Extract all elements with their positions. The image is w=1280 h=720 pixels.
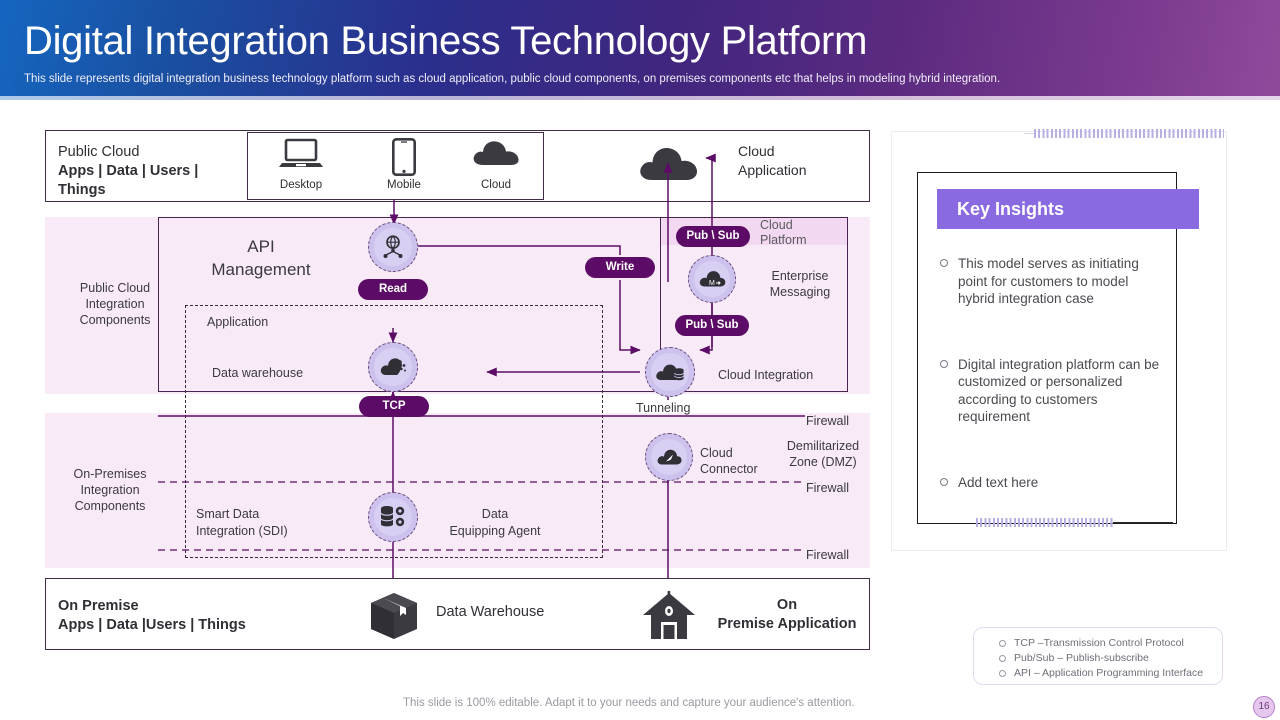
on-premises-integration-label: On-Premises Integration Components xyxy=(55,466,165,514)
smart-data-integration-node[interactable] xyxy=(368,492,418,542)
data-warehouse-box-icon xyxy=(367,591,421,641)
smart-data-integration-label: Smart Data Integration (SDI) xyxy=(196,506,316,540)
firewall-label-2: Firewall xyxy=(806,481,849,495)
cloud-connector-label: Cloud Connector xyxy=(700,445,770,477)
sdi-label-line1: Smart Data xyxy=(196,506,316,523)
enterprise-messaging-label: Enterprise Messaging xyxy=(755,268,845,300)
device-desktop-caption: Desktop xyxy=(262,179,340,191)
cloud-connector-node[interactable] xyxy=(645,433,693,481)
cloud-data-icon xyxy=(374,348,411,385)
svg-text:M: M xyxy=(709,280,715,287)
cloud-connector-icon xyxy=(651,439,687,475)
legend-item-text: API – Application Programming Interface xyxy=(1014,667,1203,679)
api-title-line1: API xyxy=(186,235,336,258)
tunneling-label: Tunneling xyxy=(636,400,690,416)
pci-label-line1: Public Cloud xyxy=(60,280,170,296)
key-insights-heading: Key Insights xyxy=(937,189,1199,229)
read-pill: Read xyxy=(359,280,427,299)
abbreviations-legend: TCP –Transmission Control Protocol Pub/S… xyxy=(973,627,1223,685)
key-insight-item: Digital integration platform can be cust… xyxy=(936,356,1161,426)
public-cloud-label-line2: Apps | Data | Users | Things xyxy=(58,162,248,200)
pub-sub-pill-top: Pub \ Sub xyxy=(677,227,749,246)
page-number-badge: 16 xyxy=(1253,696,1275,718)
key-insights-header: Key Insights xyxy=(937,189,1199,229)
key-insight-item: This model serves as initiating point fo… xyxy=(936,255,1161,308)
key-insight-text: Digital integration platform can be cust… xyxy=(958,357,1159,425)
opi-label-line1: On-Premises xyxy=(55,466,165,482)
cloud-application-label: Cloud Application xyxy=(738,142,858,180)
device-cloud-caption: Cloud xyxy=(457,179,535,191)
page-subtitle: This slide represents digital integratio… xyxy=(24,72,1000,87)
legend-item-text: Pub/Sub – Publish-subscribe xyxy=(1014,652,1149,664)
device-mobile-caption: Mobile xyxy=(365,179,443,191)
bullet-icon xyxy=(999,655,1006,662)
dmz-line2: Zone (DMZ) xyxy=(778,454,868,470)
architecture-diagram: Public Cloud Apps | Data | Users | Thing… xyxy=(0,100,890,670)
data-warehouse-label: Data warehouse xyxy=(212,366,303,380)
cloud-database-icon xyxy=(651,353,688,390)
device-cloud: Cloud xyxy=(457,138,535,191)
write-pill: Write xyxy=(586,258,654,277)
firewall-label-3: Firewall xyxy=(806,548,849,562)
public-cloud-integration-label: Public Cloud Integration Components xyxy=(60,280,170,328)
bullet-icon xyxy=(999,670,1006,677)
decorative-line-bottom xyxy=(1113,522,1173,523)
data-warehouse-box-label: Data Warehouse xyxy=(436,604,544,620)
entmsg-line1: Enterprise xyxy=(755,268,845,284)
api-management-title: API Management xyxy=(186,235,336,281)
legend-item: Pub/Sub – Publish-subscribe xyxy=(974,652,1222,665)
device-desktop: Desktop xyxy=(262,138,340,191)
key-insight-item[interactable]: Add text here xyxy=(936,474,1161,492)
cloud-application-label-line1: Cloud xyxy=(738,142,858,161)
enterprise-messaging-node[interactable]: M xyxy=(688,255,736,303)
opi-label-line3: Components xyxy=(55,498,165,514)
cloud-application-label-line2: Application xyxy=(738,161,858,180)
mobile-icon xyxy=(365,138,443,178)
database-gear-icon xyxy=(374,498,411,535)
legend-item: API – Application Programming Interface xyxy=(974,667,1222,680)
globe-icon xyxy=(374,228,411,265)
dea-label-line2: Equipping Agent xyxy=(430,523,560,540)
cloud-platform-label: Cloud Platform xyxy=(760,218,850,248)
decorative-dots-bottom xyxy=(976,518,1114,527)
bullet-icon xyxy=(940,478,948,486)
data-equipping-agent-label: Data Equipping Agent xyxy=(430,506,560,540)
cloud-integration-label: Cloud Integration xyxy=(718,367,813,383)
dmz-label: Demilitarized Zone (DMZ) xyxy=(778,438,868,470)
cloud-platform-label-line1: Cloud xyxy=(760,218,850,233)
data-warehouse-node[interactable] xyxy=(368,342,418,392)
sdi-label-line2: Integration (SDI) xyxy=(196,523,316,540)
decorative-dots-top xyxy=(1034,129,1224,138)
cloudconn-line1: Cloud xyxy=(700,445,770,461)
api-management-node[interactable] xyxy=(368,222,418,272)
api-title-line2: Management xyxy=(186,258,336,281)
cloud-icon xyxy=(457,138,535,178)
bullet-icon xyxy=(999,640,1006,647)
slide-header: Digital Integration Business Technology … xyxy=(0,0,1280,96)
pub-sub-pill-bottom: Pub \ Sub xyxy=(676,316,748,335)
on-premise-label-line2: Apps | Data |Users | Things xyxy=(58,616,268,635)
on-premise-application-label: On Premise Application xyxy=(712,596,862,634)
desktop-icon xyxy=(262,138,340,178)
opi-label-line2: Integration xyxy=(55,482,165,498)
key-insight-text: Add text here xyxy=(958,475,1038,490)
cloud-application-icon xyxy=(636,142,700,184)
on-premise-label-line1: On Premise xyxy=(58,597,268,616)
cloudconn-line2: Connector xyxy=(700,461,770,477)
device-mobile: Mobile xyxy=(365,138,443,191)
entmsg-line2: Messaging xyxy=(755,284,845,300)
on-premise-label: On Premise Apps | Data |Users | Things xyxy=(58,597,268,635)
dmz-line1: Demilitarized xyxy=(778,438,868,454)
firewall-label-1: Firewall xyxy=(806,414,849,428)
messaging-cloud-icon: M xyxy=(694,261,730,297)
cloud-platform-label-line2: Platform xyxy=(760,233,850,248)
legend-item: TCP –Transmission Control Protocol xyxy=(974,637,1222,650)
footer-note: This slide is 100% editable. Adapt it to… xyxy=(403,697,855,709)
public-cloud-label-line1: Public Cloud xyxy=(58,143,248,162)
bullet-icon xyxy=(940,360,948,368)
legend-item-text: TCP –Transmission Control Protocol xyxy=(1014,637,1184,649)
bullet-icon xyxy=(940,259,948,267)
application-label: Application xyxy=(207,315,268,329)
page-title: Digital Integration Business Technology … xyxy=(24,14,867,68)
tcp-pill: TCP xyxy=(360,397,428,416)
key-insight-text: This model serves as initiating point fo… xyxy=(958,256,1139,306)
key-insights-list: This model serves as initiating point fo… xyxy=(936,255,1161,519)
on-premise-application-icon xyxy=(641,591,697,641)
public-cloud-label: Public Cloud Apps | Data | Users | Thing… xyxy=(58,143,248,200)
cloud-integration-node[interactable] xyxy=(645,347,695,397)
opa-line1: On xyxy=(712,596,862,615)
pci-label-line2: Integration xyxy=(60,296,170,312)
dea-label-line1: Data xyxy=(430,506,560,523)
opa-line2: Premise Application xyxy=(712,615,862,634)
pci-label-line3: Components xyxy=(60,312,170,328)
